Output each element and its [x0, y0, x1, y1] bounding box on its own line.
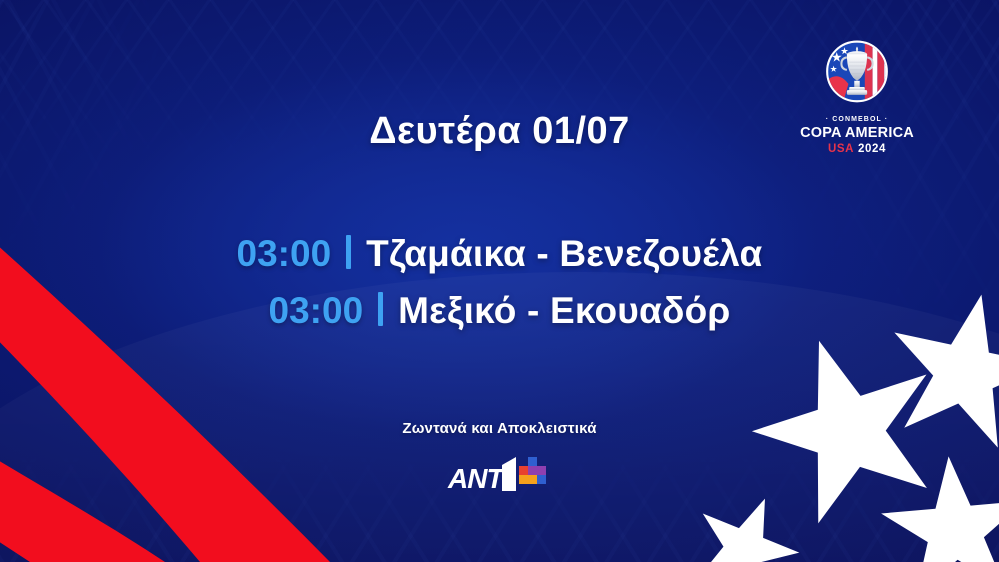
live-exclusive-note: Ζωντανά και Αποκλειστικά [0, 420, 999, 437]
ant1-logo-icon: ANT [446, 455, 554, 499]
match-separator [378, 292, 383, 326]
match-list: 03:00 Τζαμάικα - Βενεζουέλα 03:00 Μεξικό… [0, 232, 999, 332]
match-time: 03:00 [237, 233, 332, 275]
match-time: 03:00 [269, 290, 364, 332]
copa-america-trophy-badge [818, 34, 896, 112]
page-title: Δευτέρα 01/07 [0, 110, 999, 153]
match-separator [346, 235, 351, 269]
match-teams: Μεξικό - Εκουαδόρ [398, 290, 730, 332]
svg-text:ANT: ANT [447, 463, 506, 494]
list-item: 03:00 Μεξικό - Εκουαδόρ [269, 289, 731, 332]
channel-logo-ant1: ANT [0, 455, 999, 499]
broadcast-schedule-graphic: · CONMEBOL · COPA AMERICA USA2024 Δευτέρ… [0, 0, 999, 562]
ant1-plus-icon [519, 457, 546, 484]
list-item: 03:00 Τζαμάικα - Βενεζουέλα [237, 232, 763, 275]
match-teams: Τζαμάικα - Βενεζουέλα [366, 233, 762, 275]
